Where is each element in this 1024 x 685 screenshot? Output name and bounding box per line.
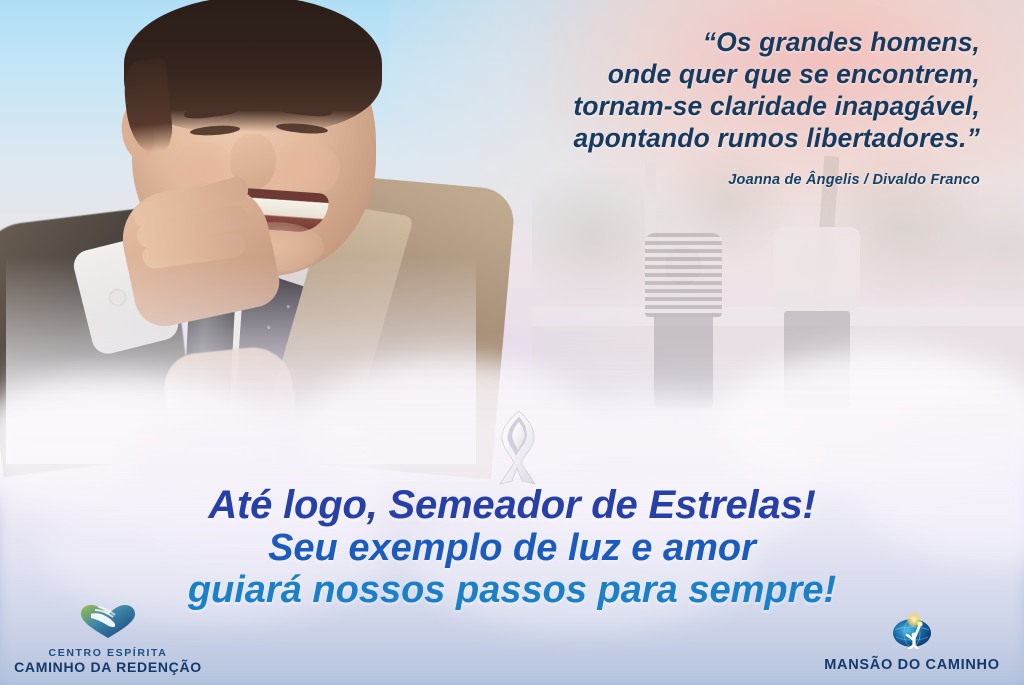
heart-hands-icon [8, 605, 208, 644]
ghost-figure-striped-shirt [645, 233, 722, 408]
logo-left-line-2: CAMINHO DA REDENÇÃO [8, 659, 208, 675]
quote-line-3: tornam-se claridade inapagável, [320, 90, 980, 122]
headline-block: Até logo, Semeador de Estrelas! Seu exem… [0, 485, 1024, 609]
quote-attribution: Joanna de Ângelis / Divaldo Franco [320, 172, 980, 188]
portrait-bottom-fade [6, 257, 476, 464]
ghost-figure-white-shirt [773, 227, 860, 408]
ghost-figure-torso [645, 233, 722, 317]
quote-block: “Os grandes homens, onde quer que se enc… [320, 26, 980, 154]
ghost-photo-two-men-walking [532, 151, 1024, 425]
ghost-figure-legs [784, 311, 850, 409]
quote-line-1: “Os grandes homens, [320, 26, 980, 58]
globe-torch-figure-icon [812, 611, 1012, 654]
white-mourning-ribbon [488, 408, 550, 486]
quote-line-4: apontando rumos libertadores.” [320, 122, 980, 154]
ghost-figure-legs [654, 314, 712, 409]
logo-centro-espirita-caminho-da-redencao: CENTRO ESPÍRITA CAMINHO DA REDENÇÃO [8, 605, 208, 675]
headline-line-1: Até logo, Semeador de Estrelas! [0, 485, 1024, 526]
headline-line-2: Seu exemplo de luz e amor [0, 529, 1024, 568]
ghost-figure-torso [773, 227, 860, 314]
logo-right-label: MANSÃO DO CAMINHO [812, 657, 1012, 673]
headline-line-3: guiará nossos passos para sempre! [0, 571, 1024, 610]
logo-left-line-1: CENTRO ESPÍRITA [8, 647, 208, 659]
memorial-poster: “Os grandes homens, onde quer que se enc… [0, 0, 1024, 685]
quote-line-2: onde quer que se encontrem, [320, 58, 980, 90]
logo-mansao-do-caminho: MANSÃO DO CAMINHO [812, 611, 1012, 673]
